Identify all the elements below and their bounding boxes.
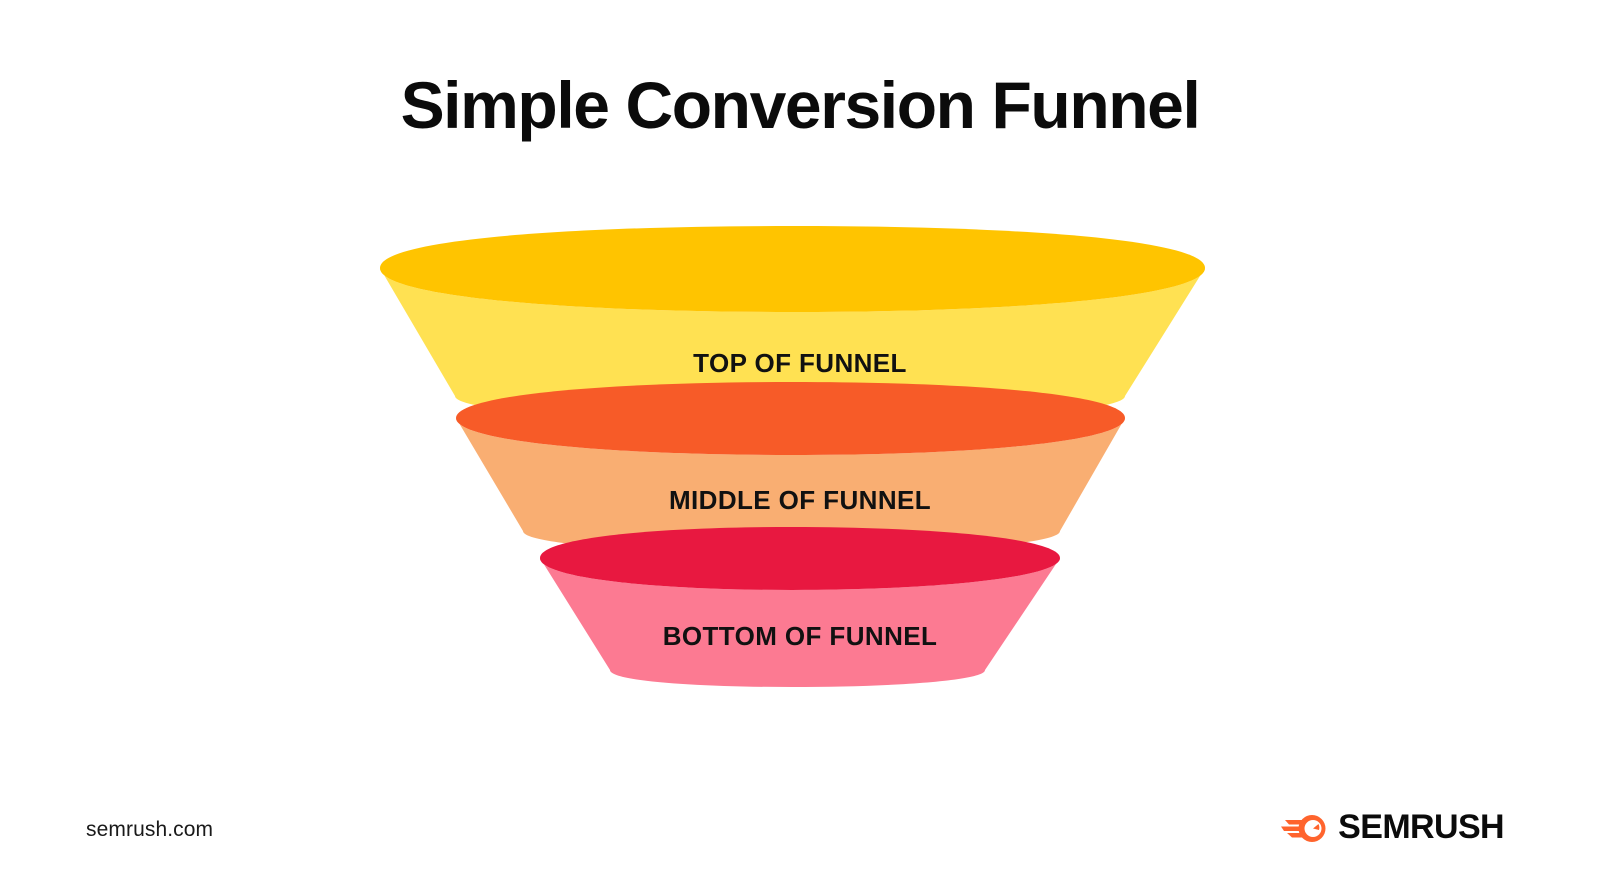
funnel-stage-label-bottom: BOTTOM OF FUNNEL xyxy=(0,621,1600,652)
funnel-stage-bottom-rim xyxy=(540,527,1060,590)
funnel-svg xyxy=(0,0,1600,892)
funnel-stage-top-rim xyxy=(380,226,1205,312)
funnel-diagram xyxy=(0,0,1600,892)
infographic-canvas: Simple Conversion Funnel TOP OF FUNN xyxy=(0,0,1600,892)
funnel-stage-bottom[interactable] xyxy=(540,527,1060,687)
funnel-stage-label-top: TOP OF FUNNEL xyxy=(0,348,1600,379)
semrush-logo: SEMRUSH xyxy=(1281,810,1504,844)
funnel-stage-label-middle: MIDDLE OF FUNNEL xyxy=(0,485,1600,516)
footer-source-url: semrush.com xyxy=(86,818,213,842)
semrush-comet-icon xyxy=(1281,810,1327,844)
semrush-wordmark: SEMRUSH xyxy=(1338,810,1504,844)
funnel-stage-middle-rim xyxy=(456,382,1125,455)
